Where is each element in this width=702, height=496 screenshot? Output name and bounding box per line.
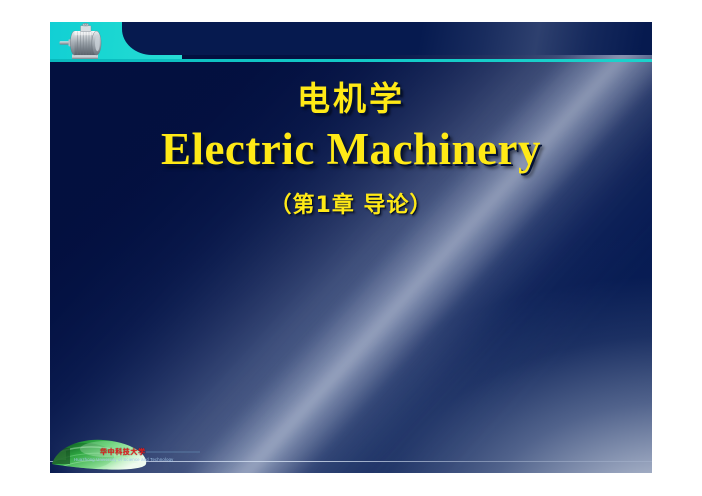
header-teal-rule xyxy=(50,59,652,62)
university-logo: 华中科技大学 Huazhong University of Science an… xyxy=(50,438,200,472)
header-plate-sheen xyxy=(122,22,652,55)
university-name-chinese: 华中科技大学 xyxy=(100,447,146,457)
header-band xyxy=(50,22,652,62)
slide-subtitle-chapter: （第1章 导论） xyxy=(50,192,652,220)
electric-motor-icon xyxy=(54,23,118,62)
slide: 电机学 Electric Machinery （第1章 导论） xyxy=(50,22,652,473)
university-name-english: Huazhong University of Science and Techn… xyxy=(74,457,174,462)
page-canvas: 电机学 Electric Machinery （第1章 导论） xyxy=(0,0,702,496)
title-chinese: 电机学 xyxy=(50,80,652,118)
title-english: Electric Machinery xyxy=(50,122,652,176)
